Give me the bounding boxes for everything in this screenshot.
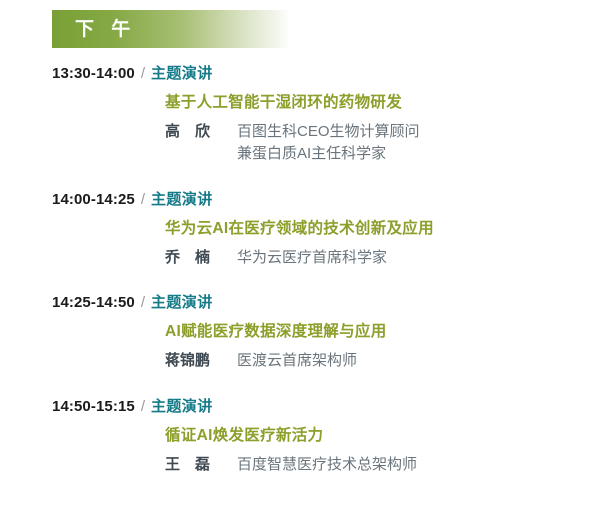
session-separator: / [141, 398, 145, 415]
session-header: 14:00-14:25 / 主题演讲 [52, 188, 600, 212]
speaker-affiliation-line: 华为云医疗首席科学家 [237, 247, 387, 270]
speaker-name: 乔 楠 [165, 247, 221, 270]
agenda-page: 下 午 13:30-14:00 / 主题演讲 基于人工智能干湿闭环的药物研发 高… [0, 0, 600, 514]
session-separator: / [141, 191, 145, 208]
session-item: 14:25-14:50 / 主题演讲 AI赋能医疗数据深度理解与应用 蒋锦鹏 医… [0, 291, 600, 372]
session-time: 14:50-15:15 [52, 398, 135, 415]
session-speaker: 王 磊 百度智慧医疗技术总架构师 [165, 454, 600, 477]
speaker-affiliation-line: 百度智慧医疗技术总架构师 [237, 454, 417, 477]
session-item: 14:50-15:15 / 主题演讲 循证AI焕发医疗新活力 王 磊 百度智慧医… [0, 395, 600, 476]
session-time: 13:30-14:00 [52, 65, 135, 82]
speaker-affiliation: 百图生科CEO生物计算顾问 兼蛋白质AI主任科学家 [237, 121, 420, 166]
session-item: 13:30-14:00 / 主题演讲 基于人工智能干湿闭环的药物研发 高 欣 百… [0, 62, 600, 166]
session-header: 14:25-14:50 / 主题演讲 [52, 291, 600, 315]
session-speaker: 高 欣 百图生科CEO生物计算顾问 兼蛋白质AI主任科学家 [165, 121, 600, 166]
session-kind-label: 主题演讲 [151, 188, 213, 209]
speaker-name: 高 欣 [165, 121, 221, 144]
speaker-affiliation: 百度智慧医疗技术总架构师 [237, 454, 417, 477]
speaker-affiliation: 医渡云首席架构师 [237, 350, 357, 373]
speaker-name: 王 磊 [165, 454, 221, 477]
session-title: 基于人工智能干湿闭环的药物研发 [165, 93, 600, 114]
speaker-name: 蒋锦鹏 [165, 350, 221, 373]
session-title: 循证AI焕发医疗新活力 [165, 426, 600, 447]
session-header: 14:50-15:15 / 主题演讲 [52, 395, 600, 419]
speaker-affiliation: 华为云医疗首席科学家 [237, 247, 387, 270]
session-kind-label: 主题演讲 [151, 291, 213, 312]
session-time: 14:00-14:25 [52, 191, 135, 208]
afternoon-section-banner: 下 午 [52, 10, 290, 48]
session-header: 13:30-14:00 / 主题演讲 [52, 62, 600, 86]
session-title: 华为云AI在医疗领域的技术创新及应用 [165, 219, 600, 240]
session-separator: / [141, 294, 145, 311]
session-title: AI赋能医疗数据深度理解与应用 [165, 322, 600, 343]
speaker-affiliation-line: 兼蛋白质AI主任科学家 [237, 143, 420, 166]
session-time: 14:25-14:50 [52, 294, 135, 311]
session-speaker: 乔 楠 华为云医疗首席科学家 [165, 247, 600, 270]
session-separator: / [141, 65, 145, 82]
session-item: 14:00-14:25 / 主题演讲 华为云AI在医疗领域的技术创新及应用 乔 … [0, 188, 600, 269]
banner-title: 下 午 [52, 20, 136, 39]
speaker-affiliation-line: 医渡云首席架构师 [237, 350, 357, 373]
session-kind-label: 主题演讲 [151, 62, 213, 83]
session-list: 13:30-14:00 / 主题演讲 基于人工智能干湿闭环的药物研发 高 欣 百… [0, 62, 600, 476]
session-speaker: 蒋锦鹏 医渡云首席架构师 [165, 350, 600, 373]
session-kind-label: 主题演讲 [151, 395, 213, 416]
speaker-affiliation-line: 百图生科CEO生物计算顾问 [237, 121, 420, 144]
